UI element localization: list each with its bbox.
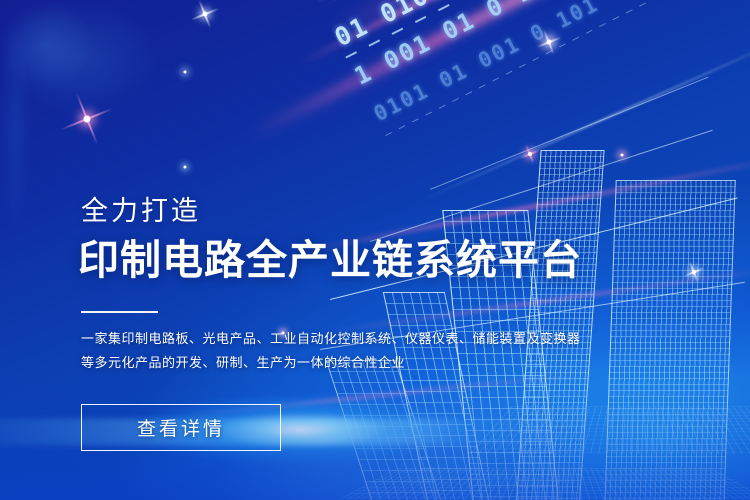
hero-content: 全力打造 印制电路全产业链系统平台 一家集印制电路板、光电产品、工业自动化控制系… xyxy=(0,0,750,500)
hero-divider xyxy=(81,311,158,313)
view-details-button[interactable]: 查看详情 xyxy=(81,404,281,451)
hero-description-line-1: 一家集印制电路板、光电产品、工业自动化控制系统、仪器仪表、储能装置及变换器 xyxy=(81,327,551,351)
hero-eyebrow: 全力打造 xyxy=(81,196,201,226)
hero-headline: 印制电路全产业链系统平台 xyxy=(78,236,582,284)
hero-banner: 01 001 01 01 001 0 101 01 001 01 0101 01… xyxy=(0,0,750,500)
hero-description-line-2: 等多元化产品的开发、研制、生产为一体的综合性企业 xyxy=(81,351,551,375)
hero-description: 一家集印制电路板、光电产品、工业自动化控制系统、仪器仪表、储能装置及变换器 等多… xyxy=(81,327,551,375)
